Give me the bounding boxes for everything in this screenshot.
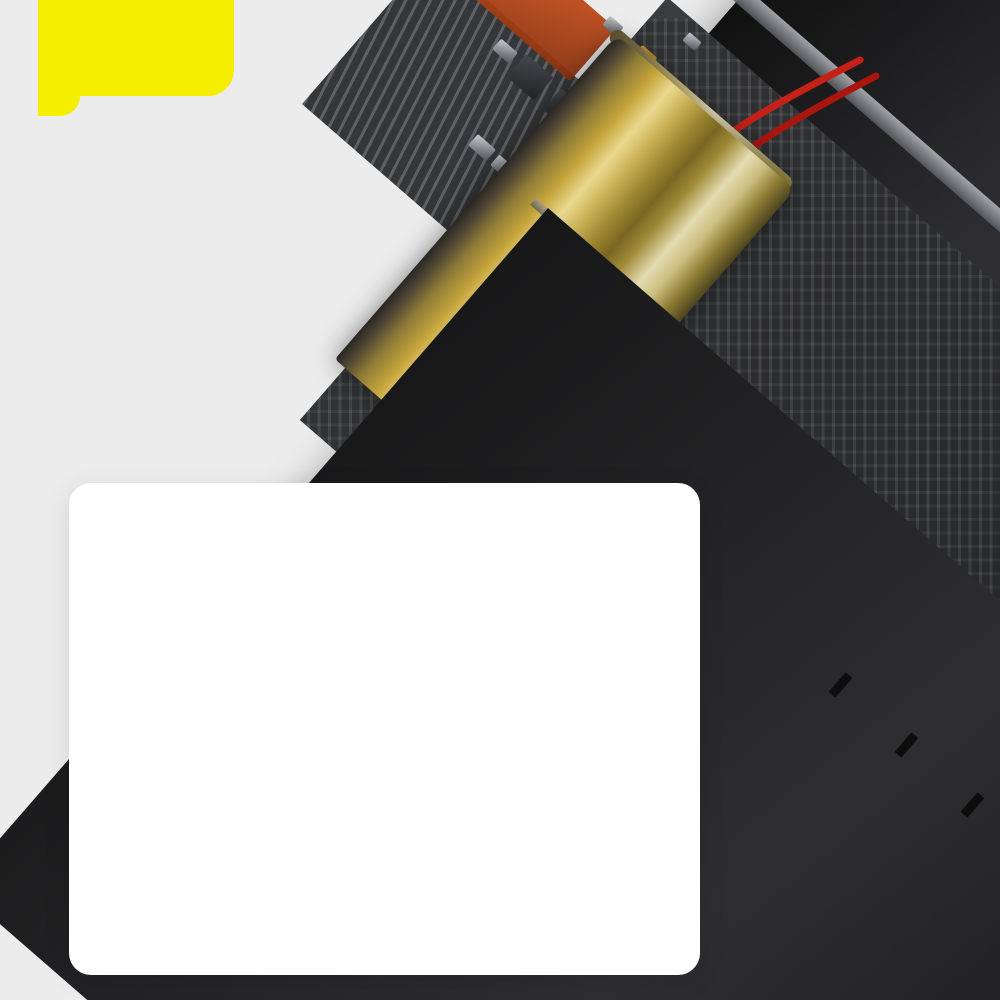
chart-plot-area: [173, 483, 668, 843]
y-axis-labels: [91, 483, 165, 843]
baseus-logo: [38, 0, 234, 96]
x-axis-labels: [173, 791, 693, 815]
info-card: [69, 483, 700, 975]
temperature-chart: [69, 483, 700, 843]
x-axis-tick-marks: [173, 765, 668, 784]
temperature-curve: [173, 483, 668, 843]
product-feature-page: [0, 0, 1000, 1000]
